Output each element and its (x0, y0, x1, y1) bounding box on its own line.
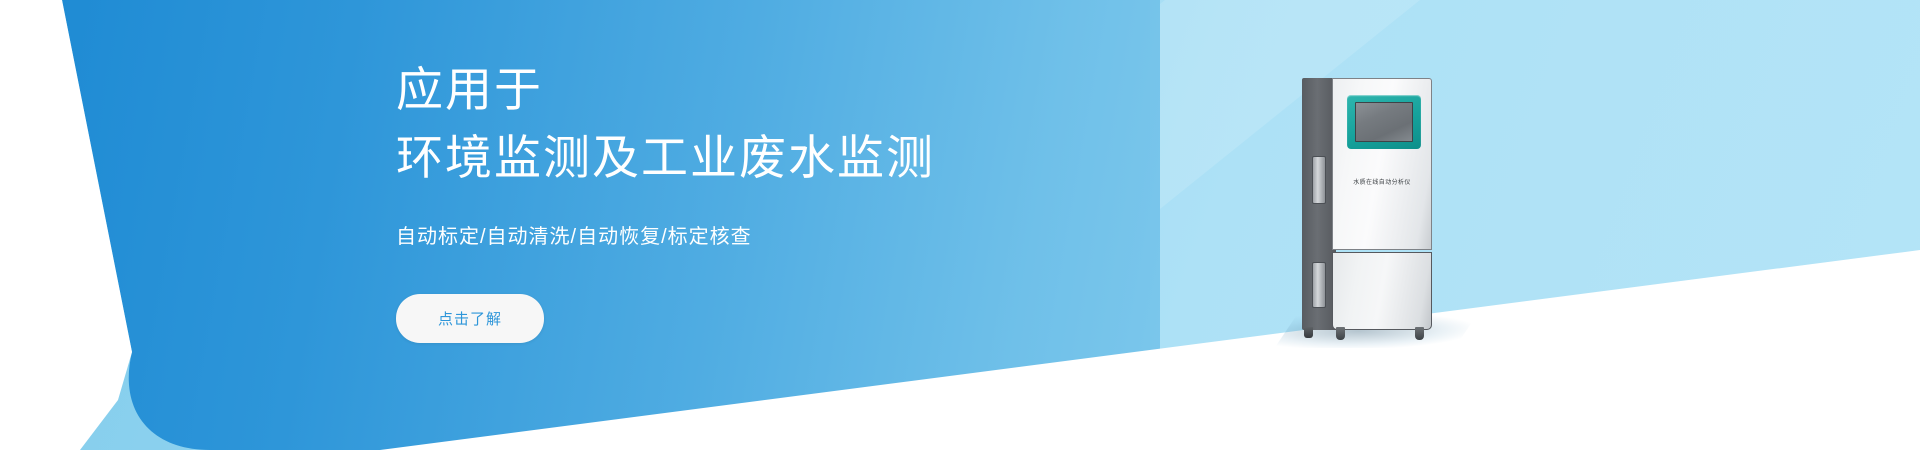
product-display-screen (1355, 102, 1413, 142)
product-rear-foot (1304, 327, 1313, 338)
hero-copy-block: 应用于 环境监测及工业废水监测 自动标定/自动清洗/自动恢复/标定核查 点击了解 (396, 56, 1156, 343)
hero-banner: 应用于 环境监测及工业废水监测 自动标定/自动清洗/自动恢复/标定核查 点击了解… (0, 0, 1920, 450)
product-lower-front-door (1332, 252, 1432, 330)
page-title: 应用于 环境监测及工业废水监测 (396, 56, 1156, 192)
product-lower-door-handle (1312, 262, 1326, 308)
learn-more-button[interactable]: 点击了解 (396, 294, 544, 343)
product-panel-label: 水质在线自动分析仪 (1333, 177, 1431, 186)
product-image-water-quality-analyzer: 水质在线自动分析仪 (1302, 78, 1432, 343)
product-screen-bezel (1347, 95, 1421, 149)
product-caster-wheel-right (1415, 327, 1424, 340)
product-upper-front-door: 水质在线自动分析仪 (1332, 78, 1432, 250)
hero-subheadline: 自动标定/自动清洗/自动恢复/标定核查 (396, 222, 1156, 252)
product-upper-door-handle (1312, 156, 1326, 204)
headline-line-2: 环境监测及工业废水监测 (396, 124, 1156, 192)
headline-line-1: 应用于 (396, 56, 1156, 124)
product-cabinet-side-panel (1302, 78, 1336, 330)
product-caster-wheel-left (1336, 327, 1345, 340)
